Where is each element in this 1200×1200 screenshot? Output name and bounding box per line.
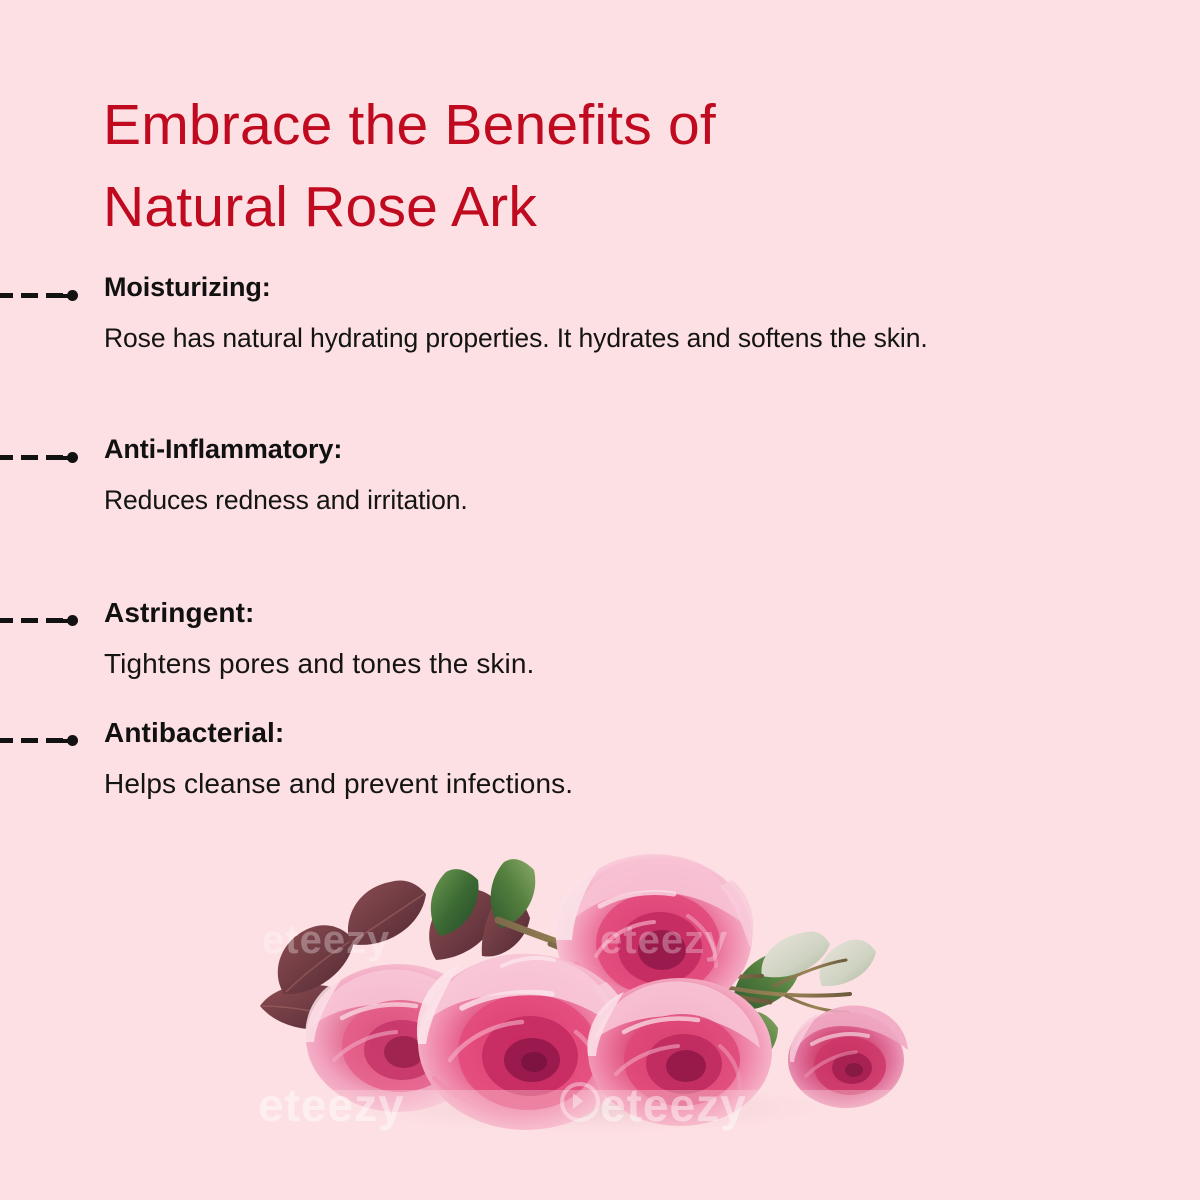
dashed-leader-dot-icon: [0, 290, 86, 300]
dashed-leader-dot-icon: [0, 735, 86, 745]
dashed-leader-dot-icon: [0, 452, 86, 462]
pink-rose-bouquet-photo: [250, 836, 950, 1136]
benefit-body: Tightens pores and tones the skin.: [104, 643, 1044, 684]
benefit-heading-row: Anti-Inflammatory:: [0, 438, 1200, 474]
benefit-title: Moisturizing:: [104, 272, 271, 303]
benefit-heading-row: Antibacterial:: [0, 721, 1200, 757]
benefit-title: Antibacterial:: [104, 717, 284, 749]
benefit-body: Reduces redness and irritation.: [104, 480, 1044, 521]
poster-canvas: Embrace the Benefits of Natural Rose Ark…: [0, 0, 1200, 1200]
list-item: Antibacterial: Helps cleanse and prevent…: [0, 721, 1200, 804]
list-item: Astringent: Tightens pores and tones the…: [0, 601, 1200, 684]
benefit-body: Rose has natural hydrating properties. I…: [104, 318, 1044, 359]
benefit-title: Anti-Inflammatory:: [104, 434, 342, 465]
page-title-line-1: Embrace the Benefits of: [103, 84, 963, 166]
benefit-heading-row: Astringent:: [0, 601, 1200, 637]
benefit-body: Helps cleanse and prevent infections.: [104, 763, 1044, 804]
benefit-heading-row: Moisturizing:: [0, 276, 1200, 312]
page-title-line-2: Natural Rose Ark: [103, 166, 963, 248]
benefit-title: Astringent:: [104, 597, 254, 629]
page-title: Embrace the Benefits of Natural Rose Ark: [103, 84, 963, 248]
list-item: Moisturizing: Rose has natural hydrating…: [0, 276, 1200, 359]
list-item: Anti-Inflammatory: Reduces redness and i…: [0, 438, 1200, 521]
play-circle-icon: [560, 1082, 600, 1122]
dashed-leader-dot-icon: [0, 615, 86, 625]
